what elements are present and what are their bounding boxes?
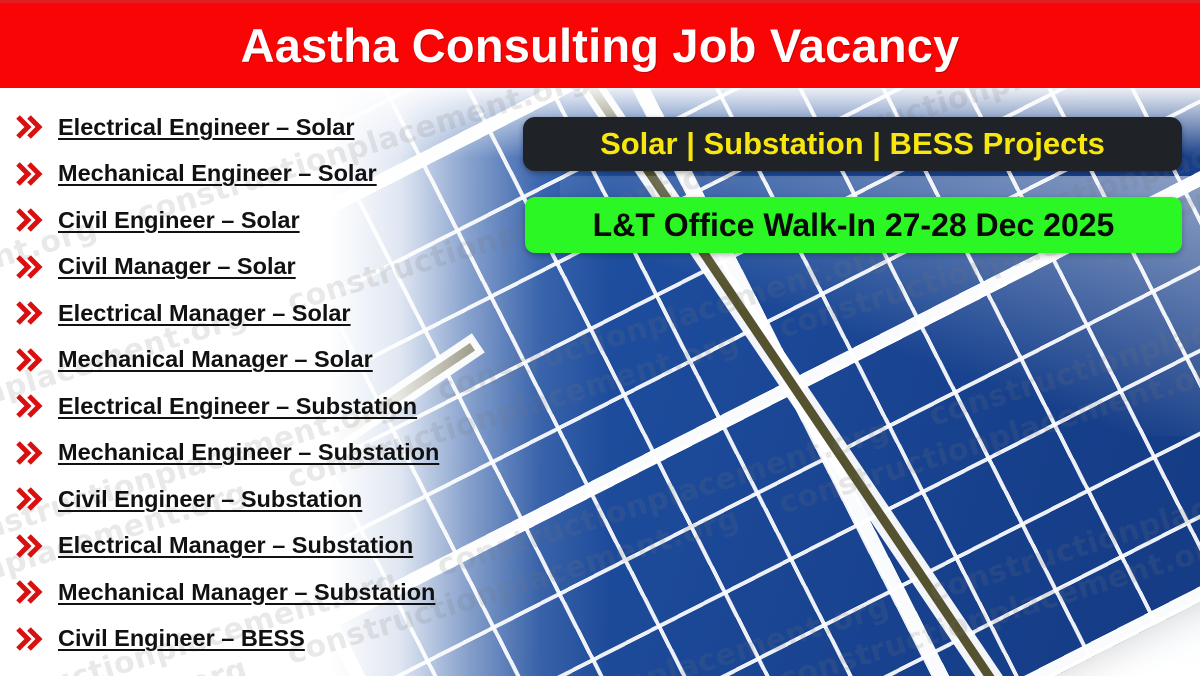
double-chevron-right-icon xyxy=(14,533,48,559)
header-bar: Aastha Consulting Job Vacancy xyxy=(0,0,1200,88)
double-chevron-right-icon xyxy=(14,254,48,280)
job-title-link[interactable]: Civil Engineer – Substation xyxy=(58,486,362,513)
job-title-link[interactable]: Mechanical Engineer – Solar xyxy=(58,160,377,187)
job-list-item[interactable]: Mechanical Engineer – Substation xyxy=(14,430,554,477)
job-list-item[interactable]: Electrical Engineer – Solar xyxy=(14,104,554,151)
job-list: Electrical Engineer – SolarMechanical En… xyxy=(14,104,554,662)
job-title-link[interactable]: Mechanical Manager – Solar xyxy=(58,346,373,373)
projects-badge: Solar | Substation | BESS Projects xyxy=(523,117,1182,171)
job-title-link[interactable]: Electrical Engineer – Substation xyxy=(58,393,417,420)
double-chevron-right-icon xyxy=(14,393,48,419)
job-title-link[interactable]: Civil Engineer – BESS xyxy=(58,625,305,652)
double-chevron-right-icon xyxy=(14,486,48,512)
job-title-link[interactable]: Civil Manager – Solar xyxy=(58,253,296,280)
double-chevron-right-icon xyxy=(14,440,48,466)
double-chevron-right-icon xyxy=(14,207,48,233)
job-list-item[interactable]: Civil Engineer – BESS xyxy=(14,616,554,663)
double-chevron-right-icon xyxy=(14,300,48,326)
double-chevron-right-icon xyxy=(14,161,48,187)
job-list-item[interactable]: Electrical Manager – Substation xyxy=(14,523,554,570)
page-title: Aastha Consulting Job Vacancy xyxy=(241,18,960,73)
double-chevron-right-icon xyxy=(14,114,48,140)
job-title-link[interactable]: Mechanical Manager – Substation xyxy=(58,579,435,606)
job-list-item[interactable]: Mechanical Manager – Solar xyxy=(14,337,554,384)
job-title-link[interactable]: Civil Engineer – Solar xyxy=(58,207,300,234)
double-chevron-right-icon xyxy=(14,347,48,373)
projects-badge-label: Solar | Substation | BESS Projects xyxy=(600,126,1105,162)
double-chevron-right-icon xyxy=(14,579,48,605)
job-title-link[interactable]: Electrical Engineer – Solar xyxy=(58,114,355,141)
job-title-link[interactable]: Electrical Manager – Substation xyxy=(58,532,413,559)
walkin-badge-label: L&T Office Walk-In 27-28 Dec 2025 xyxy=(593,207,1115,244)
job-list-item[interactable]: Electrical Manager – Solar xyxy=(14,290,554,337)
job-title-link[interactable]: Mechanical Engineer – Substation xyxy=(58,439,439,466)
double-chevron-right-icon xyxy=(14,626,48,652)
job-list-item[interactable]: Civil Manager – Solar xyxy=(14,244,554,291)
job-vacancy-poster: constructionplacement.org constructionpl… xyxy=(0,0,1200,676)
job-list-item[interactable]: Electrical Engineer – Substation xyxy=(14,383,554,430)
job-list-item[interactable]: Civil Engineer – Substation xyxy=(14,476,554,523)
job-list-item[interactable]: Mechanical Engineer – Solar xyxy=(14,151,554,198)
job-title-link[interactable]: Electrical Manager – Solar xyxy=(58,300,351,327)
job-list-item[interactable]: Civil Engineer – Solar xyxy=(14,197,554,244)
job-list-item[interactable]: Mechanical Manager – Substation xyxy=(14,569,554,616)
walkin-badge: L&T Office Walk-In 27-28 Dec 2025 xyxy=(525,197,1182,253)
